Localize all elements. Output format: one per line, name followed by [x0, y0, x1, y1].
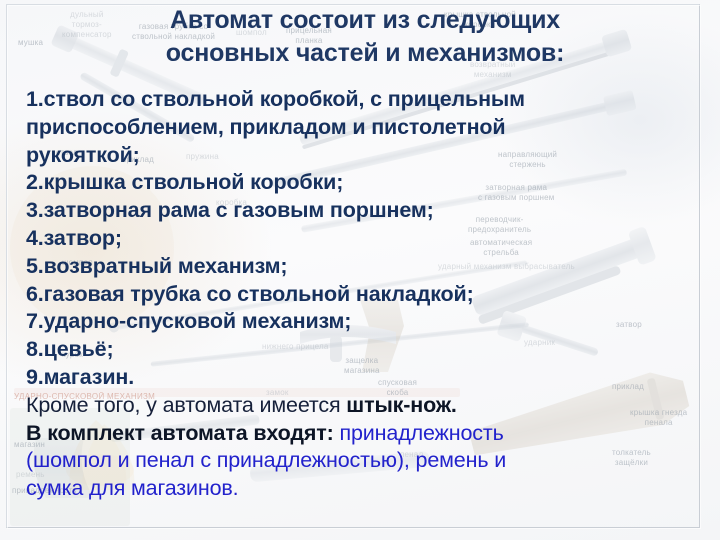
page-title: Автомат состоит из следующих основных ча…: [60, 4, 670, 70]
list-item: 7.ударно-спусковой механизм;: [26, 308, 706, 336]
kit-note-line-3: сумка для магазинов.: [26, 475, 706, 503]
bayonet-note-bold: штык-нож.: [346, 393, 456, 417]
parts-list: 1.ствол со ствольной коробкой, с прицель…: [26, 86, 706, 503]
kit-note-blue-1: принадлежность: [340, 421, 504, 445]
numbered-list: 1.ствол со ствольной коробкой, с прицель…: [26, 86, 706, 392]
slide-canvas: дульный тормоз- компенсатормушкагазовая …: [0, 0, 720, 540]
kit-note-bold: В комплект автомата входят: [26, 421, 327, 445]
bayonet-note: Кроме того, у автомата имеется штык-нож.: [26, 392, 706, 420]
kit-note-line-2: (шомпол и пенал с принадлежностью), реме…: [26, 447, 706, 475]
list-item: 4.затвор;: [26, 225, 706, 253]
list-item: 3.затворная рама с газовым поршнем;: [26, 197, 706, 225]
list-item: 8.цевьё;: [26, 336, 706, 364]
list-item: рукояткой;: [26, 142, 706, 170]
kit-note-blue-2: (шомпол и пенал с принадлежностью), реме…: [26, 448, 506, 472]
list-item: приспособлением, прикладом и пистолетной: [26, 114, 706, 142]
list-item: 6.газовая трубка со ствольной накладкой;: [26, 281, 706, 309]
page-title-line-1: Автомат состоит из следующих: [60, 4, 670, 37]
list-item: 1.ствол со ствольной коробкой, с прицель…: [26, 86, 706, 114]
page-title-line-2: основных частей и механизмов:: [60, 37, 670, 70]
kit-note-line-1: В комплект автомата входят: принадлежнос…: [26, 420, 706, 448]
list-item: 9.магазин.: [26, 364, 706, 392]
list-item: 2.крышка ствольной коробки;: [26, 169, 706, 197]
list-item: 5.возвратный механизм;: [26, 253, 706, 281]
kit-note-blue-3: сумка для магазинов.: [26, 476, 238, 500]
kit-note-colon: :: [327, 421, 340, 445]
slide-content: Автомат состоит из следующих основных ча…: [0, 0, 720, 540]
bayonet-note-prefix: Кроме того, у автомата имеется: [26, 393, 346, 417]
